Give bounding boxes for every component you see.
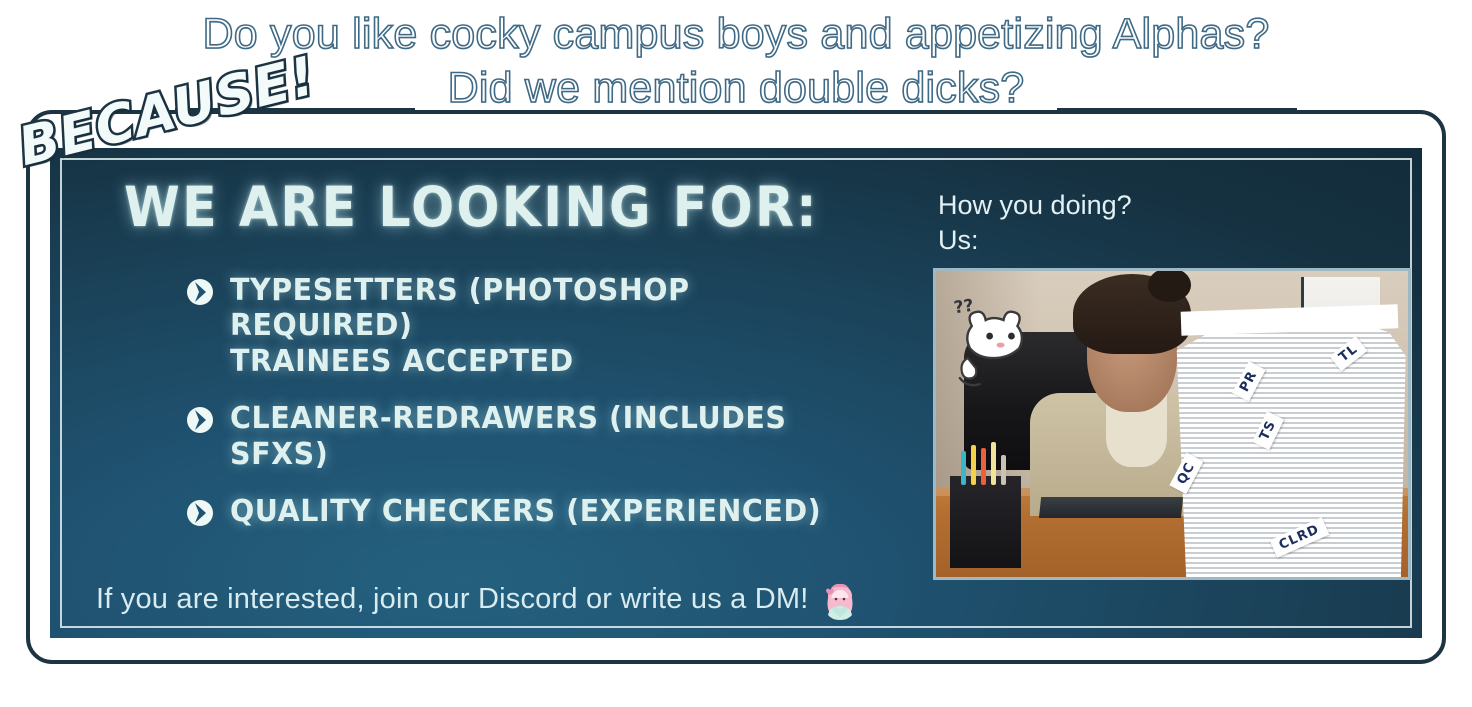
role-line-1: TYPESETTERS (PHOTOSHOP REQUIRED) (230, 273, 690, 343)
list-item-text: QUALITY CHECKERS (EXPERIENCED) (230, 494, 821, 529)
person-hair-bun (1148, 268, 1190, 302)
cat-question-marks: ?? (953, 296, 975, 319)
chibi-anime-girl-heart-sticker (819, 580, 861, 622)
keyboard (1039, 497, 1183, 518)
chevron-bullet-icon (186, 406, 214, 434)
confused-white-cat-sticker: ?? (950, 292, 1049, 402)
meme-caption: How you doing? Us: (938, 188, 1428, 257)
headline-line-1: Do you like cocky campus boys and appeti… (0, 8, 1472, 62)
role-line-1: CLEANER-REDRAWERS (INCLUDES SFXS) (230, 401, 787, 471)
recruitment-section: WE ARE LOOKING FOR: TYPESETTERS (PHOTOSH… (96, 175, 896, 551)
chevron-bullet-icon (186, 499, 214, 527)
list-item: CLEANER-REDRAWERS (INCLUDES SFXS) (186, 401, 896, 472)
role-line-1: QUALITY CHECKERS (EXPERIENCED) (230, 494, 821, 529)
contact-note: If you are interested, join our Discord … (96, 578, 861, 620)
meme-photo: TL PR TS QC CLRD ?? (933, 268, 1411, 580)
chevron-bullet-icon (186, 278, 214, 306)
meme-caption-line-2: Us: (938, 223, 1428, 258)
contact-note-text: If you are interested, join our Discord … (96, 583, 809, 616)
list-item-text: TYPESETTERS (PHOTOSHOP REQUIRED) TRAINEE… (230, 273, 863, 379)
pens (955, 442, 1016, 485)
photo-scene: TL PR TS QC CLRD ?? (936, 271, 1408, 577)
page-title: WE ARE LOOKING FOR: (124, 175, 834, 239)
list-item-text: CLEANER-REDRAWERS (INCLUDES SFXS) (230, 401, 863, 472)
role-line-2: TRAINEES ACCEPTED (230, 344, 863, 379)
meme-caption-line-1: How you doing? (938, 188, 1428, 223)
pen-cup (950, 476, 1021, 568)
role-list: TYPESETTERS (PHOTOSHOP REQUIRED) TRAINEE… (96, 273, 896, 529)
list-item: QUALITY CHECKERS (EXPERIENCED) (186, 494, 896, 529)
list-item: TYPESETTERS (PHOTOSHOP REQUIRED) TRAINEE… (186, 273, 896, 379)
